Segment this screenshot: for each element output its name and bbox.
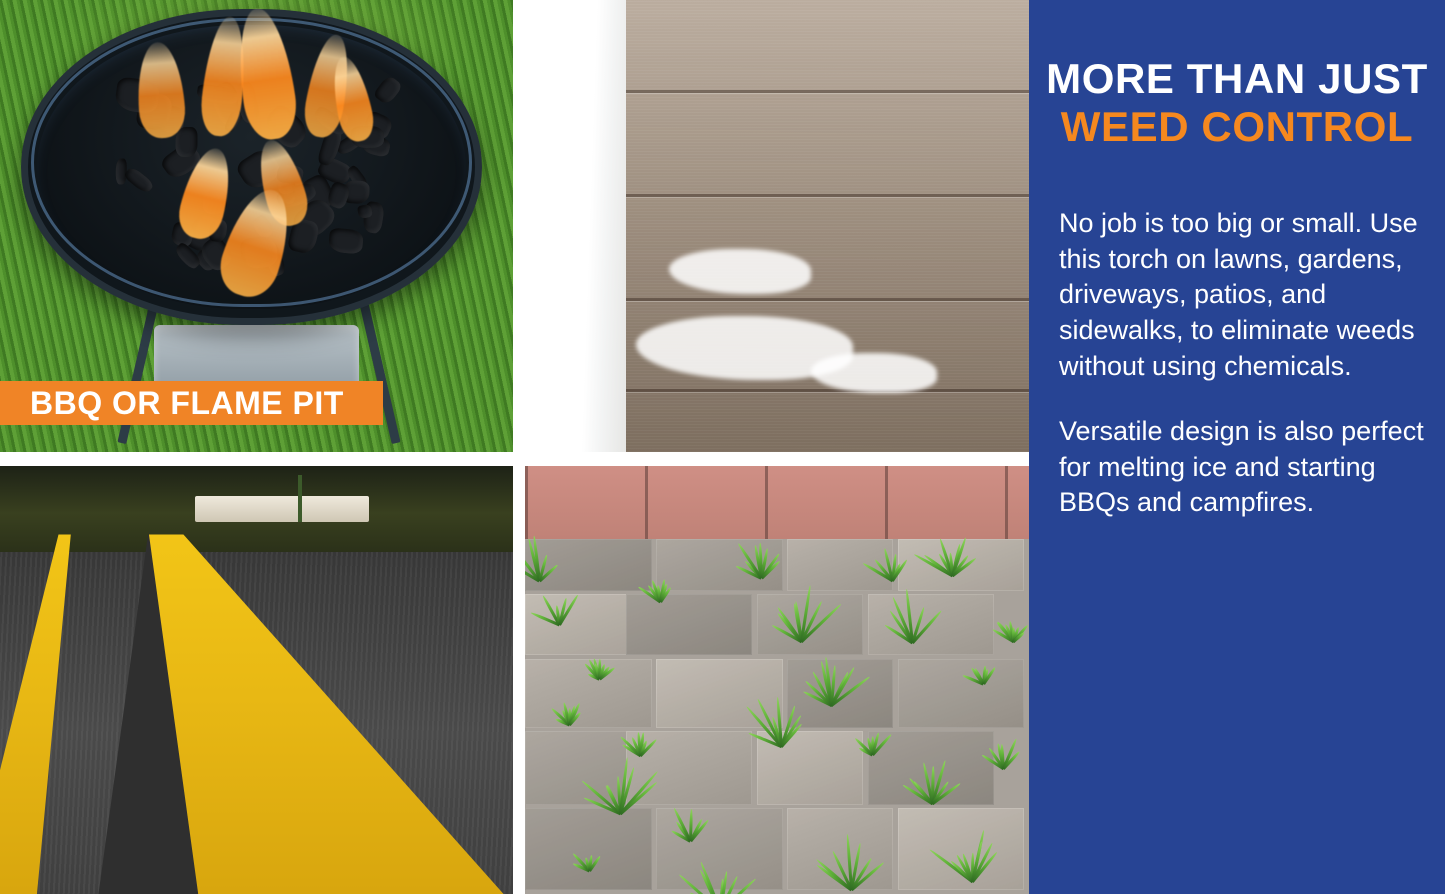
snow-bank [525,0,626,452]
photo-grid: BBQ OR FLAME PIT MELT ICE [0,0,1029,894]
photo-cell-weed-control: WEED CONTROL [525,466,1029,894]
photo-cell-melt-ice: MELT ICE [525,0,1029,452]
panel-body-copy: No job is too big or small. Use this tor… [1059,206,1429,521]
charcoal-pile [103,72,421,289]
paver-weeds-photo [525,466,1029,894]
paragraph-2: Versatile design is also perfect for mel… [1059,414,1429,521]
photo-cell-bbq-or-flame-pit: BBQ OR FLAME PIT [0,0,513,452]
road-markings-photo [0,466,513,894]
page-title: MORE THAN JUST WEED CONTROL [1029,58,1445,148]
info-panel: MORE THAN JUST WEED CONTROL No job is to… [1029,0,1445,894]
caption-bbq-or-flame-pit: BBQ OR FLAME PIT [0,381,383,425]
headline-line-2: WEED CONTROL [1029,106,1445,148]
curb-stones [195,496,369,522]
brick-course [525,466,1029,539]
headline-line-1: MORE THAN JUST [1029,58,1445,100]
sidewalk-surface [611,0,1029,452]
infographic-root: BBQ OR FLAME PIT MELT ICE [0,0,1445,894]
photo-cell-paint-removal: PAINT REMOVAL [0,466,513,894]
paragraph-1: No job is too big or small. Use this tor… [1059,206,1429,384]
sign-post [298,475,302,522]
yellow-line-right [31,534,513,894]
yellow-line-left [0,534,123,894]
snowy-sidewalk-photo [525,0,1029,452]
